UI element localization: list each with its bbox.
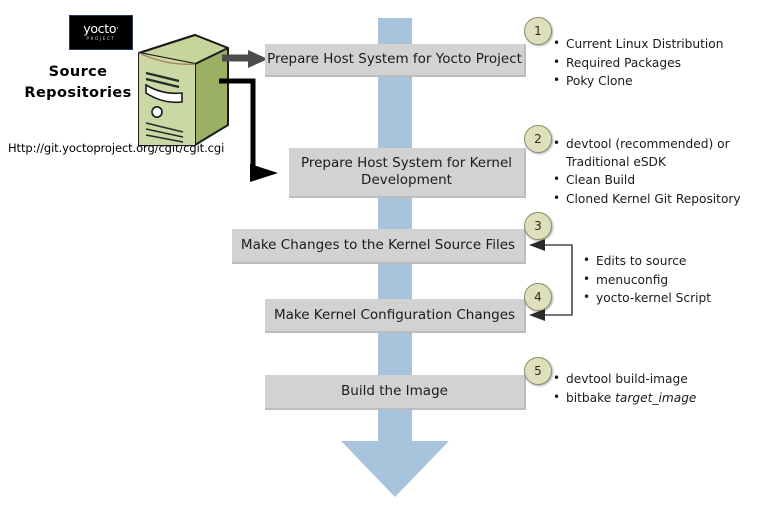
flow-arrow-down-icon (341, 441, 449, 497)
step-badge-1: 1 (524, 17, 552, 45)
logo-subtext: PROJECT (86, 36, 115, 42)
list-item: devtool build-image (553, 371, 758, 389)
step-badge-2: 2 (524, 125, 552, 153)
list-item: devtool (recommended) or Traditional eSD… (553, 136, 758, 171)
bullet-list-steps-3-4: Edits to source menuconfig yocto-kernel … (583, 253, 758, 309)
step-badge-3: 3 (524, 212, 552, 240)
step-badge-5: 5 (524, 357, 552, 385)
list-item: Poky Clone (553, 73, 758, 91)
bitbake-command-prefix: bitbake (566, 391, 615, 405)
logo-dot: · (116, 24, 119, 34)
bullet-list-step5: devtool build-image bitbake target_image (553, 371, 758, 408)
process-box-step2[interactable]: Prepare Host System for Kernel Developme… (289, 148, 526, 198)
process-box-step4[interactable]: Make Kernel Configuration Changes (265, 299, 526, 333)
list-item: Current Linux Distribution (553, 36, 758, 54)
logo-word-text: yocto (83, 21, 116, 36)
list-item: Clean Build (553, 172, 758, 190)
list-item: Cloned Kernel Git Repository (553, 191, 758, 209)
list-item: Required Packages (553, 55, 758, 73)
list-item: Edits to source (583, 253, 758, 271)
logo-wordmark: yocto· (83, 23, 119, 35)
step-badge-4: 4 (524, 283, 552, 311)
list-item: yocto-kernel Script (583, 290, 758, 308)
server-tower-icon (133, 33, 231, 151)
process-box-step3[interactable]: Make Changes to the Kernel Source Files (232, 229, 526, 264)
source-label-line1: Source (18, 62, 138, 83)
process-box-step1[interactable]: Prepare Host System for Yocto Project (265, 44, 526, 77)
diagram-canvas: yocto· PROJECT Source Repositories Http:… (0, 0, 769, 517)
yocto-project-logo: yocto· PROJECT (69, 15, 133, 50)
bitbake-target-image-arg: target_image (615, 391, 696, 405)
list-item: menuconfig (583, 272, 758, 290)
source-repositories-label: Source Repositories (18, 62, 138, 104)
bullet-list-step2: devtool (recommended) or Traditional eSD… (553, 136, 758, 209)
process-box-step5[interactable]: Build the Image (265, 375, 526, 410)
source-label-line2: Repositories (18, 83, 138, 104)
list-item: bitbake target_image (553, 390, 758, 408)
bullet-list-step1: Current Linux Distribution Required Pack… (553, 36, 758, 92)
